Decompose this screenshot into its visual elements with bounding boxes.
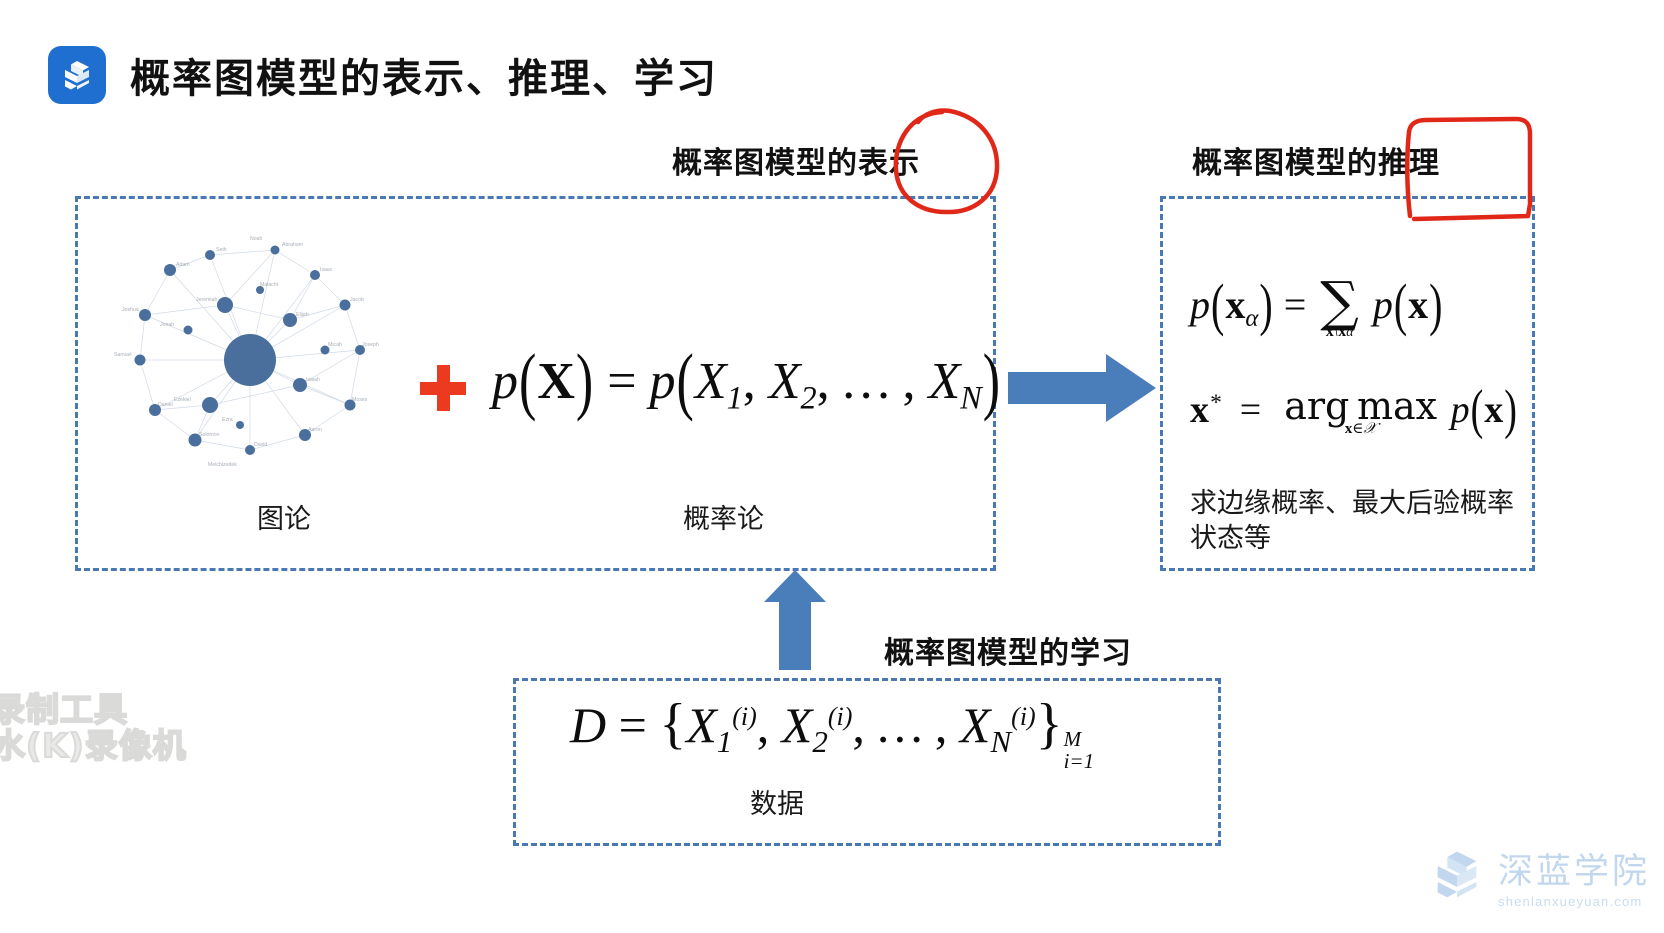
page-title: 概率图模型的表示、推理、学习 [130, 46, 718, 104]
svg-text:Noah: Noah [250, 236, 263, 242]
formula-map-estimate: x* = arg max x∈𝒳 p(x) [1190, 388, 1518, 437]
svg-text:Daniel: Daniel [158, 402, 173, 408]
svg-text:Moses: Moses [352, 397, 368, 403]
svg-text:Jeremiah: Jeremiah [196, 297, 217, 303]
svg-text:Melchizedek: Melchizedek [208, 462, 237, 468]
section-title-representation: 概率图模型的表示 [672, 138, 920, 182]
shenlan-cube-logo-icon [48, 46, 106, 104]
slide-canvas: 概率图模型的表示、推理、学习 概率图模型的表示 概率图模型的推理 概率图模型的学… [0, 0, 1664, 933]
svg-text:Joshua: Joshua [122, 307, 139, 313]
inference-description: 求边缘概率、最大后验概率状态等 [1190, 487, 1520, 556]
svg-text:Elijah: Elijah [296, 312, 309, 318]
graph-network-figure: AdamSethNoah AbrahamIsaacJacob JosephMos… [100, 210, 410, 480]
svg-text:Aaron: Aaron [308, 427, 322, 433]
brand-watermark: 深蓝学院 shenlanxueyuan.com [1428, 843, 1650, 909]
caption-graph-theory: 图论 [257, 497, 311, 536]
section-title-inference: 概率图模型的推理 [1192, 138, 1440, 182]
caption-data: 数据 [750, 782, 804, 821]
recorder-watermark-line1: 录制工具 [0, 692, 187, 728]
formula-training-data: D = {X1(i), X2(i), … , XN(i)}Mi=1 [570, 692, 1094, 772]
svg-text:Jacob: Jacob [350, 297, 364, 303]
argmax-operator: arg max x∈𝒳 [1284, 390, 1437, 437]
svg-text:Isaiah: Isaiah [306, 377, 320, 383]
recorder-watermark-line2: 水(K)录像机 [0, 728, 187, 764]
section-title-learning: 概率图模型的学习 [884, 628, 1132, 672]
arrow-learning-to-representation [762, 570, 828, 675]
svg-text:Adam: Adam [176, 262, 190, 268]
plus-icon [420, 365, 466, 411]
svg-text:Micah: Micah [328, 342, 342, 348]
arrow-representation-to-inference [1008, 352, 1158, 429]
svg-text:Jonah: Jonah [160, 322, 174, 328]
summation-operator: ∑ x\xα [1320, 278, 1359, 340]
caption-probability-theory: 概率论 [683, 497, 764, 536]
formula-marginal-probability: p(xα) = ∑ x\xα p(x) [1190, 278, 1443, 340]
svg-text:Joseph: Joseph [362, 342, 379, 348]
brand-watermark-name: 深蓝学院 [1498, 843, 1650, 894]
svg-text:Ezra: Ezra [222, 417, 233, 423]
svg-text:Abraham: Abraham [282, 242, 303, 248]
svg-text:Ezekiel: Ezekiel [174, 397, 191, 403]
svg-text:Samuel: Samuel [114, 352, 132, 358]
slide-header: 概率图模型的表示、推理、学习 [48, 46, 718, 104]
svg-text:Seth: Seth [216, 247, 227, 253]
recorder-watermark: 录制工具 水(K)录像机 [0, 692, 187, 763]
svg-text:Isaac: Isaac [320, 267, 333, 273]
brand-watermark-url: shenlanxueyuan.com [1498, 894, 1650, 909]
svg-text:David: David [254, 442, 267, 448]
svg-text:Malachi: Malachi [260, 282, 278, 288]
svg-text:Solomon: Solomon [199, 432, 220, 438]
formula-joint-probability: p(X) = p(X1, X2, … , XN) [492, 352, 1001, 416]
shenlan-logo-icon [1428, 845, 1486, 908]
